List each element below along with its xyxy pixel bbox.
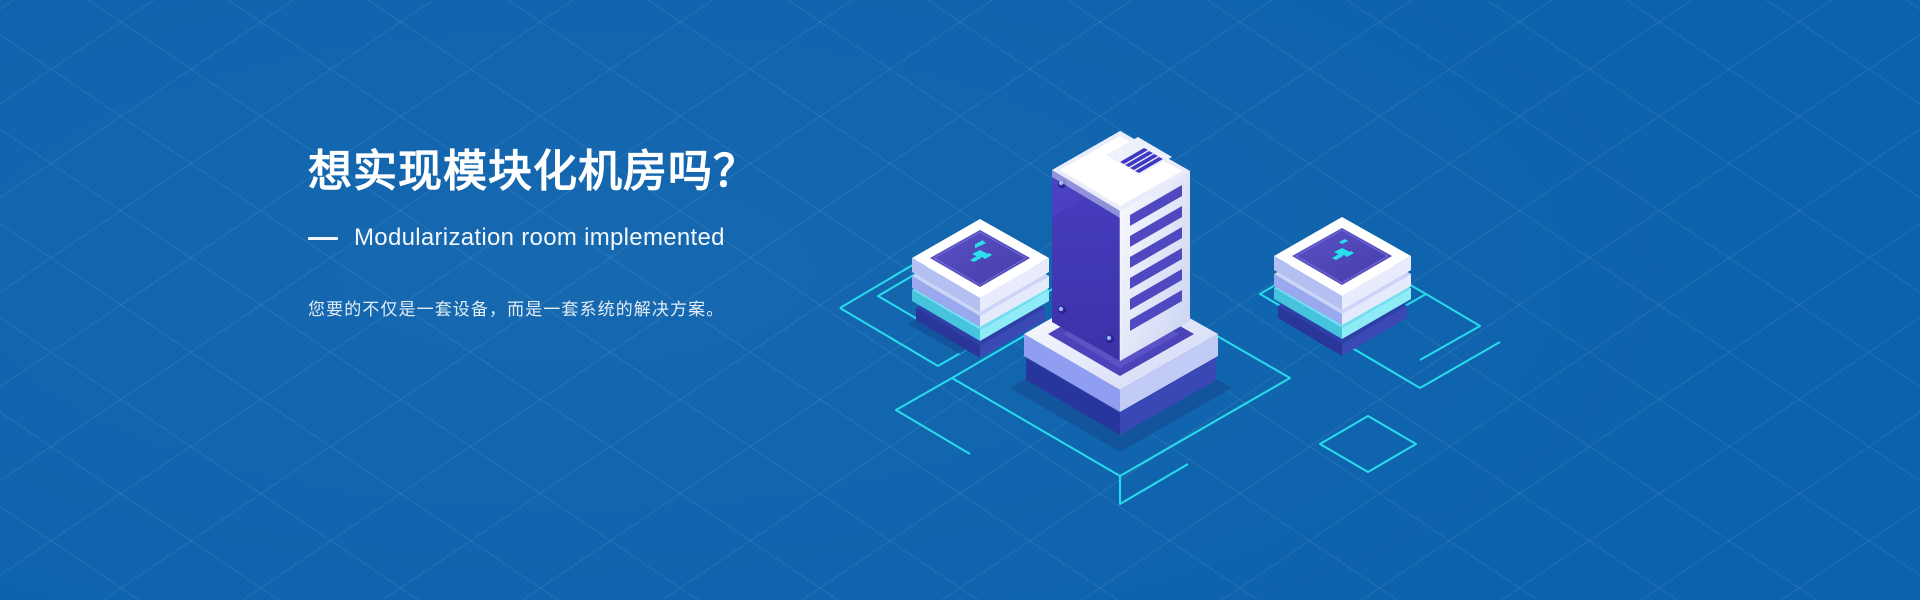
- chip-module-right: [1274, 217, 1411, 356]
- hero-banner: 想实现模块化机房吗？ Modularization room implement…: [0, 0, 1920, 600]
- banner-subtitle: Modularization room implemented: [354, 224, 725, 253]
- dash-accent-icon: [308, 237, 338, 240]
- server-tower: [1024, 131, 1218, 435]
- isometric-server-illustration: [820, 58, 1520, 528]
